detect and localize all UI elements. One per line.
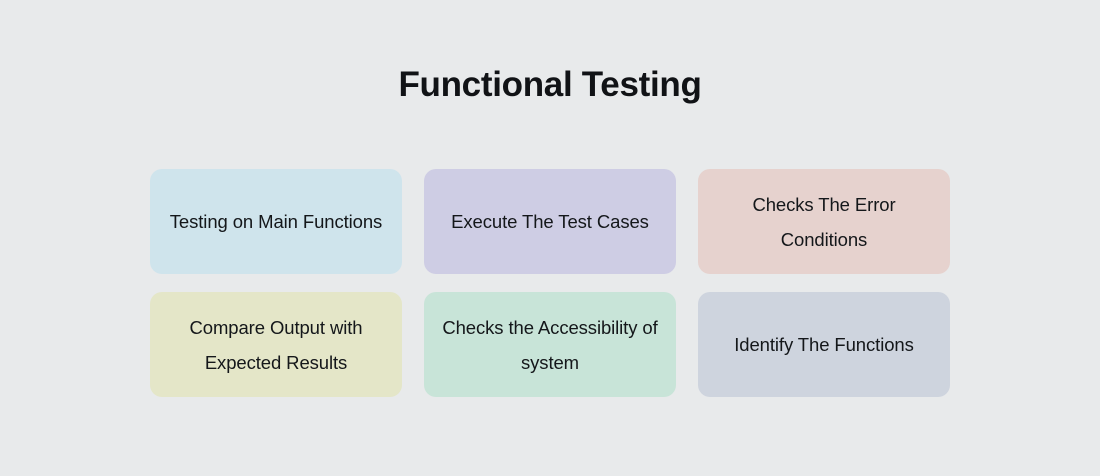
card-label: Identify The Functions: [734, 327, 913, 362]
card-testing-on-main-functions: Testing on Main Functions: [150, 169, 402, 274]
card-identify-the-functions: Identify The Functions: [698, 292, 950, 397]
functional-testing-infographic: Functional Testing Testing on Main Funct…: [0, 0, 1100, 476]
card-checks-the-accessibility-of-system: Checks the Accessibility of system: [424, 292, 676, 397]
card-checks-the-error-conditions: Checks The Error Conditions: [698, 169, 950, 274]
page-title: Functional Testing: [0, 64, 1100, 106]
card-compare-output-with-expected-results: Compare Output with Expected Results: [150, 292, 402, 397]
card-execute-the-test-cases: Execute The Test Cases: [424, 169, 676, 274]
card-label: Checks The Error Conditions: [708, 187, 940, 257]
card-label: Checks the Accessibility of system: [434, 310, 666, 380]
card-label: Execute The Test Cases: [451, 204, 649, 239]
card-label: Testing on Main Functions: [170, 204, 382, 239]
card-grid: Testing on Main Functions Execute The Te…: [150, 169, 950, 397]
card-label: Compare Output with Expected Results: [160, 310, 392, 380]
